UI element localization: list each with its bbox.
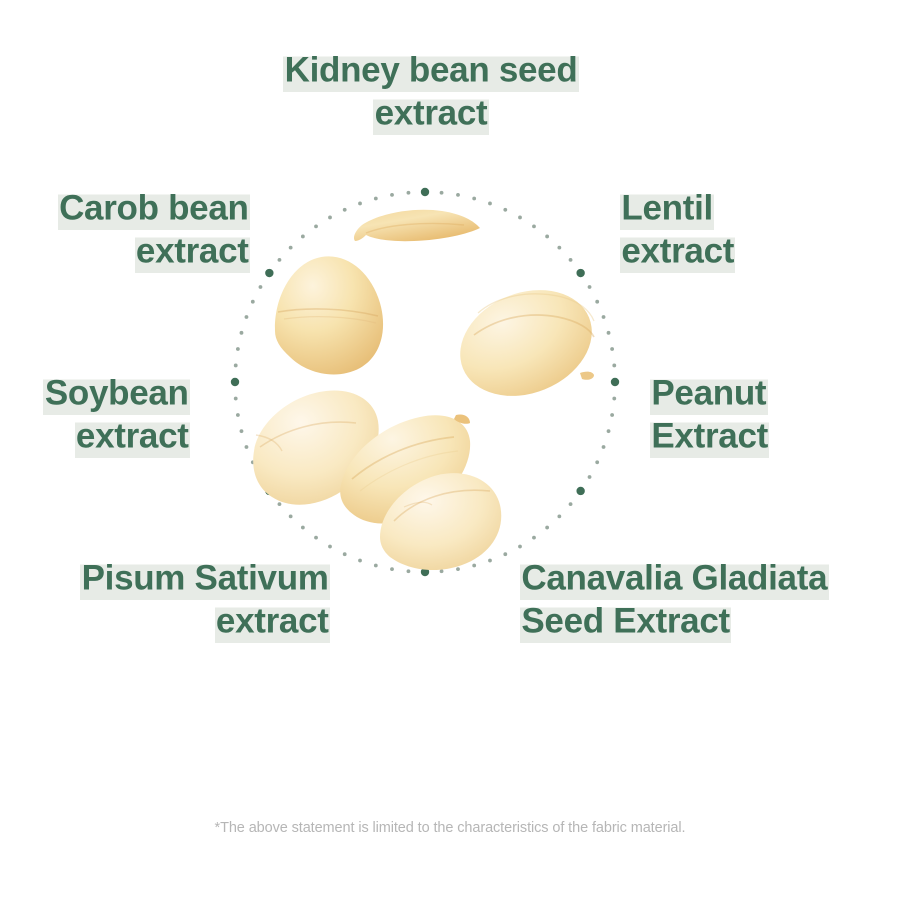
- label-line-2: extract: [620, 231, 890, 274]
- label-line-2: extract: [0, 231, 250, 274]
- label-canavalia-gladiata-seed-extract: Canavalia Gladiata Seed Extract: [520, 558, 892, 643]
- footnote-disclaimer: *The above statement is limited to the c…: [0, 820, 900, 836]
- label-line-1: Peanut: [650, 373, 890, 416]
- bean-illustration: [228, 185, 622, 579]
- label-line-1: Soybean: [0, 373, 190, 416]
- label-line-1: Pisum Sativum: [0, 558, 330, 601]
- label-line-1: Lentil: [620, 188, 890, 231]
- label-line-2: Seed Extract: [520, 601, 892, 644]
- infographic-canvas: Kidney bean seed extract Carob bean extr…: [0, 0, 900, 900]
- label-line-2: extract: [0, 416, 190, 459]
- label-line-2: Extract: [650, 416, 890, 459]
- label-lentil-extract: Lentil extract: [620, 188, 890, 273]
- label-line-1: Canavalia Gladiata: [520, 558, 892, 601]
- label-soybean-extract: Soybean extract: [0, 373, 190, 458]
- label-line-1: Kidney bean seed: [246, 50, 616, 93]
- label-line-2: extract: [246, 93, 616, 136]
- label-carob-bean-extract: Carob bean extract: [0, 188, 250, 273]
- label-line-1: Carob bean: [0, 188, 250, 231]
- bean-oval-right: [444, 271, 608, 415]
- label-kidney-bean-seed-extract: Kidney bean seed extract: [246, 50, 616, 135]
- label-line-2: extract: [0, 601, 330, 644]
- bean-sliver-top: [354, 210, 480, 241]
- label-peanut-extract: Peanut Extract: [650, 373, 890, 458]
- bean-wedge-left: [275, 256, 383, 374]
- label-pisum-sativum-extract: Pisum Sativum extract: [0, 558, 330, 643]
